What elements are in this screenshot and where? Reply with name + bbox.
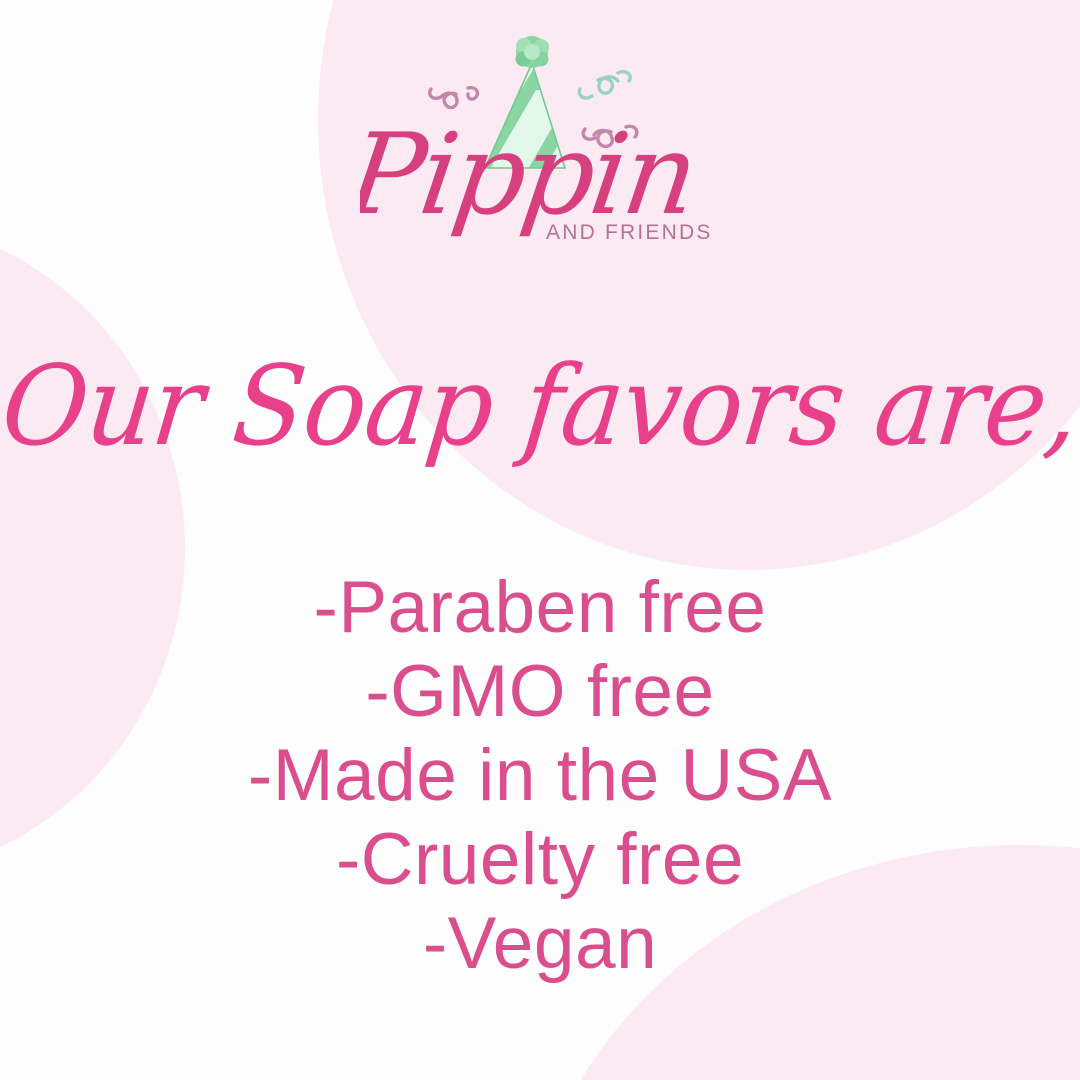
headline: Our Soap favors are,	[0, 352, 1080, 461]
brand-logo: Pippin AND FRIENDS	[0, 28, 1080, 258]
list-item: -Paraben free	[0, 566, 1080, 650]
logo-artwork: Pippin AND FRIENDS	[360, 28, 720, 258]
list-item: -Made in the USA	[0, 734, 1080, 818]
brand-tagline: AND FRIENDS	[546, 221, 713, 244]
confetti-swirl-icon	[430, 88, 478, 108]
list-item: -Vegan	[0, 902, 1080, 986]
promo-graphic-canvas: Pippin AND FRIENDS Our Soap favors are, …	[0, 0, 1080, 1080]
list-item: -GMO free	[0, 650, 1080, 734]
pom-pom-icon	[516, 36, 550, 68]
confetti-swirl-icon	[579, 72, 630, 98]
headline-text: Our Soap favors are,	[0, 349, 1080, 465]
list-item: -Cruelty free	[0, 818, 1080, 902]
feature-list: -Paraben free -GMO free -Made in the USA…	[0, 566, 1080, 986]
